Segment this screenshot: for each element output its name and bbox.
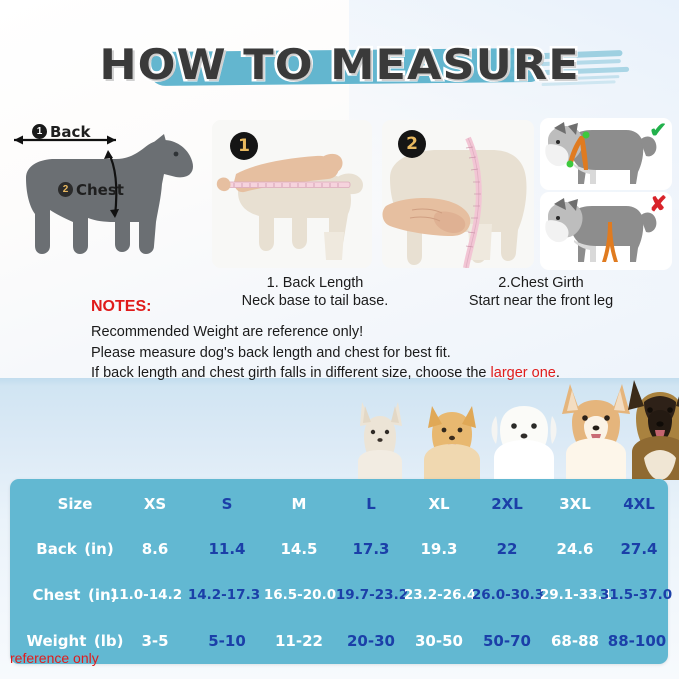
dog-bichon	[492, 406, 557, 480]
cell-back-s: 11.4	[194, 534, 260, 564]
cell-weight-2xl: 50-70	[474, 626, 540, 656]
dog-size-photo-band	[340, 380, 679, 480]
cell-weight-m: 11-22	[266, 626, 332, 656]
dog-silhouette-diagram: 1 Back 2 Chest	[4, 118, 204, 268]
cell-weight-3xl: 68-88	[542, 626, 608, 656]
cell-size-4xl: 4XL	[610, 489, 668, 519]
cell-size-s: S	[194, 489, 260, 519]
page-title: HOW TO MEASURE	[0, 34, 679, 96]
cell-chest-4xl: 31.5-37.0	[596, 580, 676, 610]
cell-back-3xl: 24.6	[542, 534, 608, 564]
caption-step-1-sub: Neck base to tail base.	[200, 292, 430, 310]
footnote-reference-only: reference only	[10, 650, 99, 666]
cell-size-xs: XS	[122, 489, 188, 519]
dog-pomeranian	[424, 406, 480, 480]
notes-line-3-highlight: larger one	[491, 365, 556, 381]
cell-weight-l: 20-30	[338, 626, 404, 656]
notes-line-3-post: .	[556, 365, 560, 381]
step-1-badge: 1	[230, 132, 258, 160]
cell-chest-s: 14.2-17.3	[184, 580, 264, 610]
back-step-badge: 1	[32, 124, 47, 139]
notes-label: NOTES:	[91, 298, 151, 316]
cell-weight-xl: 30-50	[406, 626, 472, 656]
cell-back-2xl: 22	[474, 534, 540, 564]
notes-line-3-pre: If back length and chest girth falls in …	[91, 365, 491, 381]
photo-chest-girth: 2	[382, 120, 534, 268]
back-label: Back	[50, 123, 90, 141]
cell-back-4xl: 27.4	[610, 534, 668, 564]
notes-line-1: Recommended Weight are reference only!	[91, 322, 671, 343]
cell-size-2xl: 2XL	[474, 489, 540, 519]
caption-step-1-title: 1. Back Length	[200, 274, 430, 292]
incorrect-cross-icon: ✘	[649, 194, 667, 215]
dog-corgi	[562, 384, 630, 480]
correct-check-icon: ✔	[649, 120, 667, 141]
cell-size-xl: XL	[406, 489, 472, 519]
step-2-badge: 2	[398, 130, 426, 158]
cell-weight-s: 5-10	[194, 626, 260, 656]
caption-step-2-title: 2.Chest Girth	[426, 274, 656, 292]
notes-line-2: Please measure dog's back length and che…	[91, 343, 671, 364]
chest-step-badge: 2	[58, 182, 73, 197]
notes-body: Recommended Weight are reference only! P…	[91, 322, 671, 384]
dog-breeds-illustration	[340, 380, 679, 480]
cell-weight-4xl: 88-100	[606, 626, 668, 656]
table-row-chest: Chest (in) 11.0-14.2 14.2-17.3 16.5-20.0…	[10, 580, 668, 610]
row-label-size: Size	[10, 489, 140, 519]
cell-size-m: M	[266, 489, 332, 519]
cell-back-xl: 19.3	[406, 534, 472, 564]
photo-incorrect-fit: ✘	[540, 192, 672, 270]
cell-back-m: 14.5	[266, 534, 332, 564]
chest-label: Chest	[76, 181, 124, 199]
table-row-weight: Weight (lb) 3-5 5-10 11-22 20-30 30-50 5…	[10, 626, 668, 656]
caption-step-1: 1. Back Length Neck base to tail base.	[200, 274, 430, 310]
title-banner: HOW TO MEASURE	[0, 34, 679, 100]
cell-back-xs: 8.6	[122, 534, 188, 564]
table-row-size: Size XS S M L XL 2XL 3XL 4XL	[10, 489, 668, 519]
size-chart-infographic: HOW TO MEASURE 1 Back 2 Chest	[0, 0, 679, 679]
caption-step-2-sub: Start near the front leg	[426, 292, 656, 310]
photo-back-length: 1	[212, 120, 372, 268]
table-row-back: Back (in) 8.6 11.4 14.5 17.3 19.3 22 24.…	[10, 534, 668, 564]
cell-chest-xs: 11.0-14.2	[106, 580, 186, 610]
cell-chest-m: 16.5-20.0	[260, 580, 340, 610]
dog-chihuahua	[358, 402, 402, 480]
cell-weight-xs: 3-5	[122, 626, 188, 656]
photo-correct-fit: ✔	[540, 118, 672, 190]
cell-size-3xl: 3XL	[542, 489, 608, 519]
row-label-back: Back (in)	[10, 534, 140, 564]
cell-back-l: 17.3	[338, 534, 404, 564]
size-chart-table: Size XS S M L XL 2XL 3XL 4XL Back (in) 8…	[10, 479, 668, 664]
cell-size-l: L	[338, 489, 404, 519]
dog-german-shepherd	[628, 380, 679, 480]
caption-step-2: 2.Chest Girth Start near the front leg	[426, 274, 656, 310]
